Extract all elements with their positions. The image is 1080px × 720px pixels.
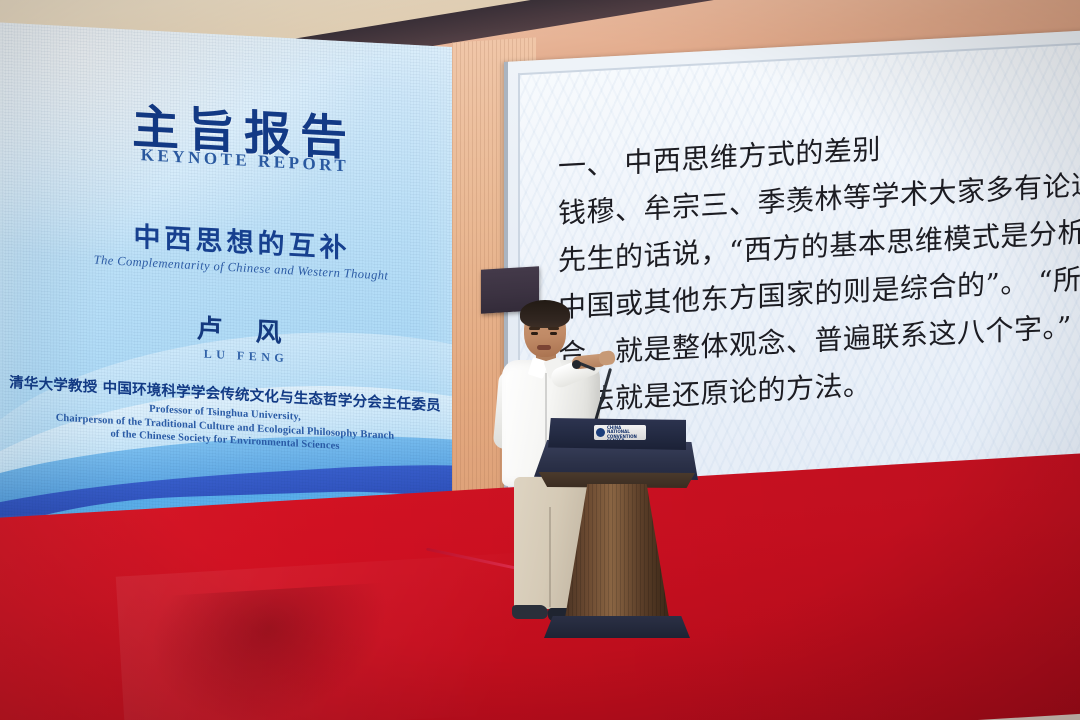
right-slide-text: 一、 中西思维方式的差别 钱穆、牟宗三、季羡林等学术大家多有论述。用季 先生的话… bbox=[558, 112, 1080, 425]
microphone-icon bbox=[572, 360, 581, 369]
photo-scene: 主旨报告 KEYNOTE REPORT 中西思想的互补 The Compleme… bbox=[0, 0, 1080, 720]
podium-wood-pedestal bbox=[564, 484, 670, 624]
left-eye bbox=[531, 332, 538, 335]
lectern-podium: 国家会议中心 CHINA NATIONAL CONVENTION CENTER bbox=[548, 418, 686, 638]
right-eye bbox=[550, 332, 557, 335]
plaque-text-en: CHINA NATIONAL CONVENTION CENTER bbox=[607, 426, 644, 440]
podium-venue-plaque: 国家会议中心 CHINA NATIONAL CONVENTION CENTER bbox=[594, 425, 646, 440]
left-shoe bbox=[512, 605, 548, 619]
plaque-text: 国家会议中心 CHINA NATIONAL CONVENTION CENTER bbox=[607, 425, 644, 440]
left-eyebrow bbox=[529, 327, 540, 330]
mouth bbox=[537, 345, 551, 350]
hair bbox=[520, 300, 570, 328]
right-eyebrow bbox=[548, 327, 559, 330]
podium-base bbox=[544, 616, 690, 638]
venue-logo-icon bbox=[596, 428, 605, 437]
podium-front-face: 国家会议中心 CHINA NATIONAL CONVENTION CENTER bbox=[548, 418, 686, 450]
